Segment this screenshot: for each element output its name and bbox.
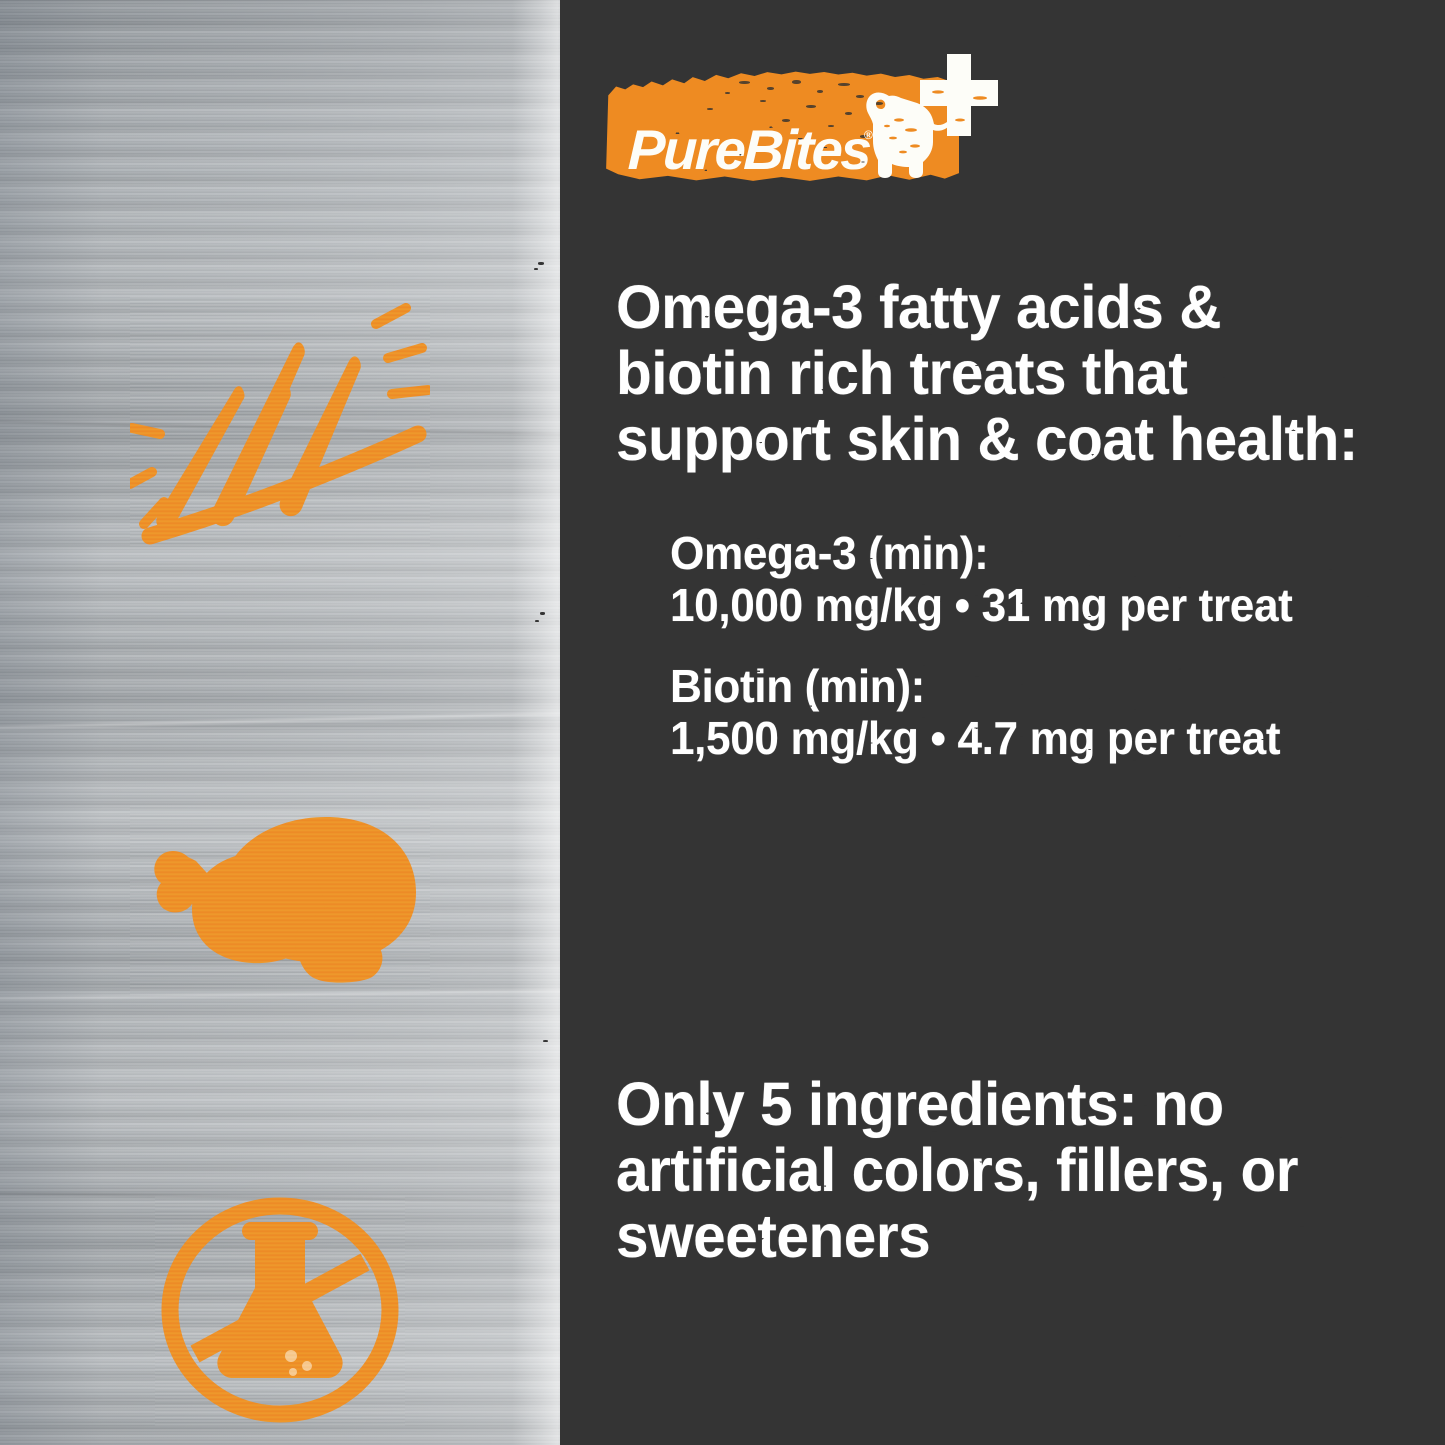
icon-slot-chicken [0, 800, 560, 1000]
edge-speck [534, 268, 538, 270]
edge-speck [538, 262, 544, 265]
headline-text: Omega-3 fatty acids & biotin rich treats… [616, 274, 1384, 473]
shiny-coat-icon [130, 296, 430, 546]
icon-slot-shiny-coat [0, 296, 560, 546]
nutrient-value: 10,000 mg/kg • 31 mg per treat [670, 580, 1419, 632]
edge-speck [540, 612, 545, 615]
nutrient-list: Omega-3 (min): 10,000 mg/kg • 31 mg per … [670, 528, 1445, 764]
product-info-panel: PureBites ® [0, 0, 1445, 1445]
chicken-icon [130, 805, 430, 995]
purebites-logo[interactable]: PureBites ® [604, 48, 1024, 188]
edge-speck [543, 1040, 548, 1042]
nutrient-item-biotin: Biotin (min): 1,500 mg/kg • 4.7 mg per t… [670, 661, 1445, 764]
no-chemicals-icon [155, 1196, 405, 1426]
edge-speck [535, 620, 539, 622]
plus-cross-icon [916, 52, 1002, 149]
dark-content-panel: PureBites ® [560, 0, 1445, 1445]
nutrient-value: 1,500 mg/kg • 4.7 mg per treat [670, 713, 1419, 765]
nutrient-name: Biotin (min): [670, 661, 1419, 713]
callout-ingredients: Only 5 ingredients: no artificial colors… [616, 1071, 1394, 1270]
nutrient-name: Omega-3 (min): [670, 528, 1419, 580]
nutrient-item-omega3: Omega-3 (min): 10,000 mg/kg • 31 mg per … [670, 528, 1445, 631]
icon-slot-no-chemicals [0, 1196, 560, 1426]
